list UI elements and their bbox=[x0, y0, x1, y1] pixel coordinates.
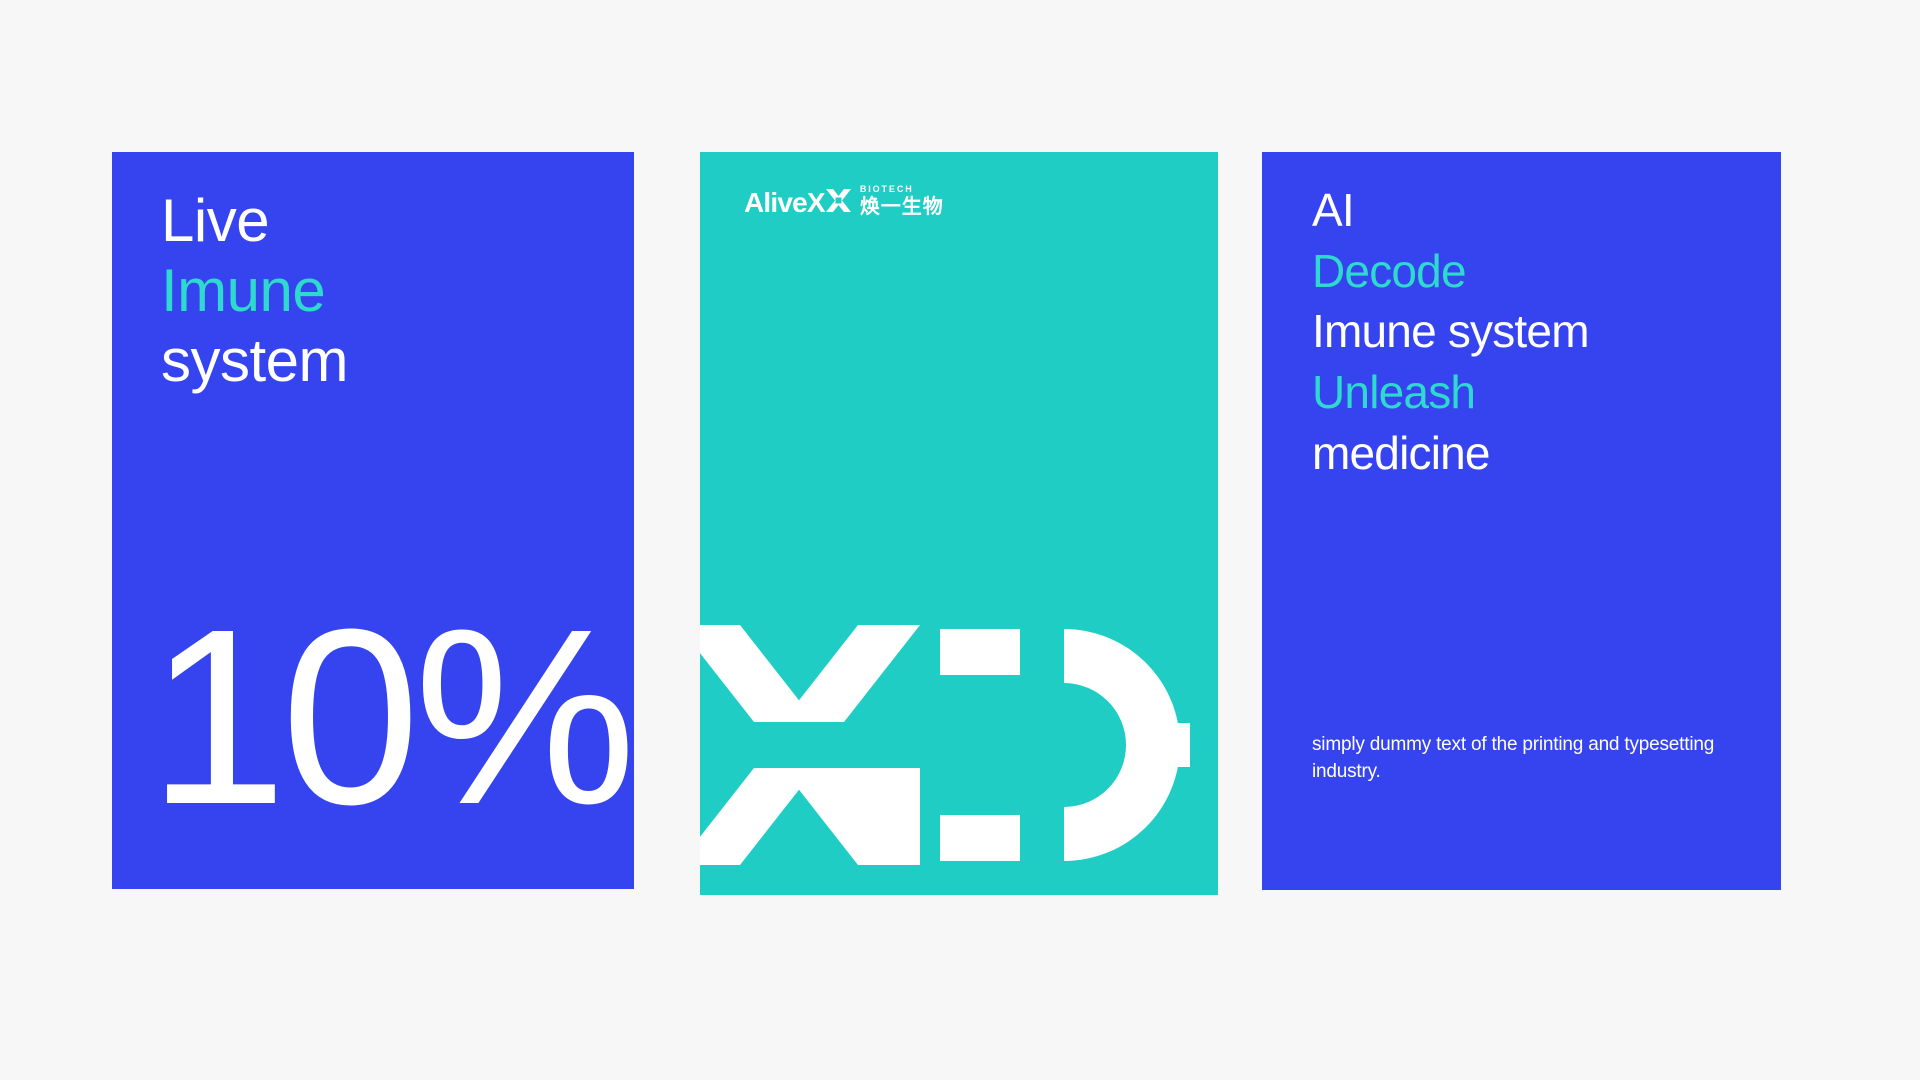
poster-live-statistic: 10% bbox=[148, 592, 630, 842]
headline-line-imune: Imune bbox=[161, 256, 348, 326]
letterform-c-icon bbox=[940, 629, 1020, 861]
brand-wordmark: AliveX bbox=[744, 189, 851, 217]
poster-live-headline: Live Imune system bbox=[161, 186, 348, 397]
brand-wordmark-text: AliveX bbox=[744, 189, 825, 217]
brand-tagline: BIOTECH bbox=[860, 185, 944, 194]
poster-alivex-logo[interactable]: AliveX BIOTECH 焕一生物 bbox=[700, 152, 1218, 895]
poster-ai-body-copy: simply dummy text of the printing and ty… bbox=[1312, 732, 1722, 786]
brand-logo-lockup[interactable]: AliveX BIOTECH 焕一生物 bbox=[744, 185, 944, 217]
brand-cn-block: BIOTECH 焕一生物 bbox=[860, 185, 944, 217]
poster-live-imune-system[interactable]: Live Imune system 10% bbox=[112, 152, 634, 889]
xcd-letterform-graphic bbox=[700, 625, 1218, 865]
letterform-d-icon bbox=[1064, 629, 1190, 861]
headline-line-imune-system: Imune system bbox=[1312, 301, 1589, 362]
poster-ai-headline: AI Decode Imune system Unleash medicine bbox=[1312, 180, 1589, 484]
poster-ai-decode-medicine[interactable]: AI Decode Imune system Unleash medicine … bbox=[1262, 152, 1781, 890]
headline-line-unleash: Unleash bbox=[1312, 362, 1589, 423]
headline-line-ai: AI bbox=[1312, 180, 1589, 241]
headline-line-decode: Decode bbox=[1312, 241, 1589, 302]
poster-gallery-canvas: Live Imune system 10% AliveX BIOTECH 焕一生… bbox=[0, 0, 1920, 1080]
brand-name-chinese: 焕一生物 bbox=[860, 197, 944, 217]
alivex-x-icon bbox=[826, 189, 851, 212]
headline-line-live: Live bbox=[161, 186, 348, 256]
headline-line-system: system bbox=[161, 326, 348, 396]
headline-line-medicine: medicine bbox=[1312, 423, 1589, 484]
